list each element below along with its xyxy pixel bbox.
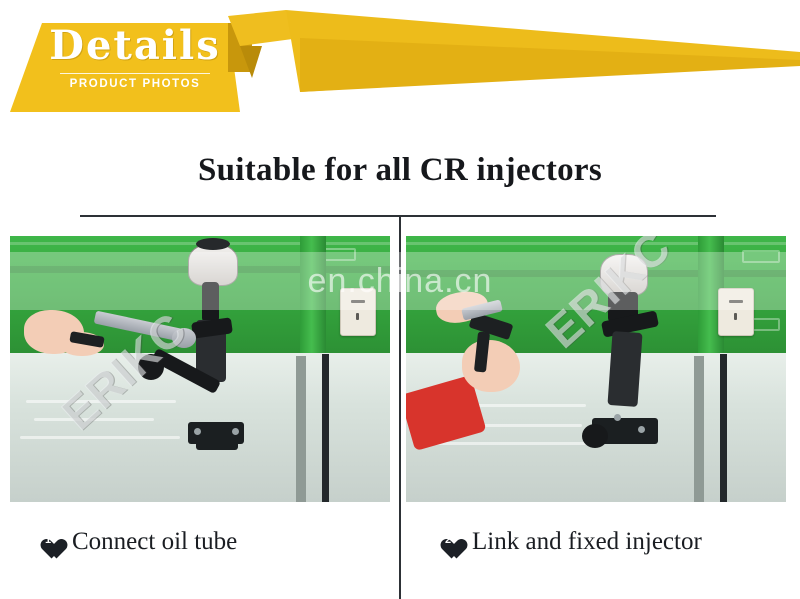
operator-hand (462, 340, 520, 392)
injector-cap (188, 244, 238, 286)
heart-badge-number: 2 (436, 533, 460, 547)
ribbon-shape (0, 0, 800, 130)
machine-seam (406, 242, 786, 245)
machine-band (406, 270, 786, 277)
heart-badge-icon: 2 (436, 531, 460, 553)
photo-scene-right (406, 236, 786, 502)
caption-text: Connect oil tube (72, 528, 237, 556)
injector-body (202, 282, 219, 322)
wrench-head (172, 328, 196, 348)
fixture-base-foot (196, 436, 238, 450)
bench-rail-dark (322, 354, 329, 502)
product-photo-link-fixed-injector: ERIKC (406, 236, 786, 502)
fixture-bolt (194, 428, 201, 435)
wall-socket (340, 288, 376, 336)
bench-streak (34, 418, 154, 421)
heart-badge-number: 1 (36, 533, 60, 547)
details-banner: Details PRODUCT PHOTOS (0, 0, 800, 130)
wall-socket (718, 288, 754, 336)
horizontal-divider (80, 215, 716, 217)
bench-streak (26, 400, 176, 403)
fixture-bolt (638, 426, 645, 433)
fixture-knob (138, 354, 164, 380)
injector-cap-top (196, 238, 230, 250)
caption-link-and-fixed-injector: 2 Link and fixed injector (436, 528, 702, 556)
bench-rail (296, 356, 306, 502)
fixture-bolt (232, 428, 239, 435)
bench-rail (694, 356, 704, 502)
fixture-bolt (614, 414, 621, 421)
photo-scene-left (10, 236, 390, 502)
bench-rail-dark (720, 354, 727, 502)
fixture-knob (582, 424, 608, 448)
caption-text: Link and fixed injector (472, 528, 702, 556)
caption-connect-oil-tube: 1 Connect oil tube (36, 528, 237, 556)
bench-streak (20, 436, 180, 439)
heart-badge-icon: 1 (36, 531, 60, 553)
injector-cap (600, 254, 648, 296)
machine-slot (742, 250, 780, 263)
injector-holder (607, 331, 642, 407)
vertical-divider (399, 217, 401, 599)
bench-streak (426, 442, 596, 445)
page-title: Suitable for all CR injectors (0, 152, 800, 189)
product-photo-connect-oil-tube: ERIKC (10, 236, 390, 502)
